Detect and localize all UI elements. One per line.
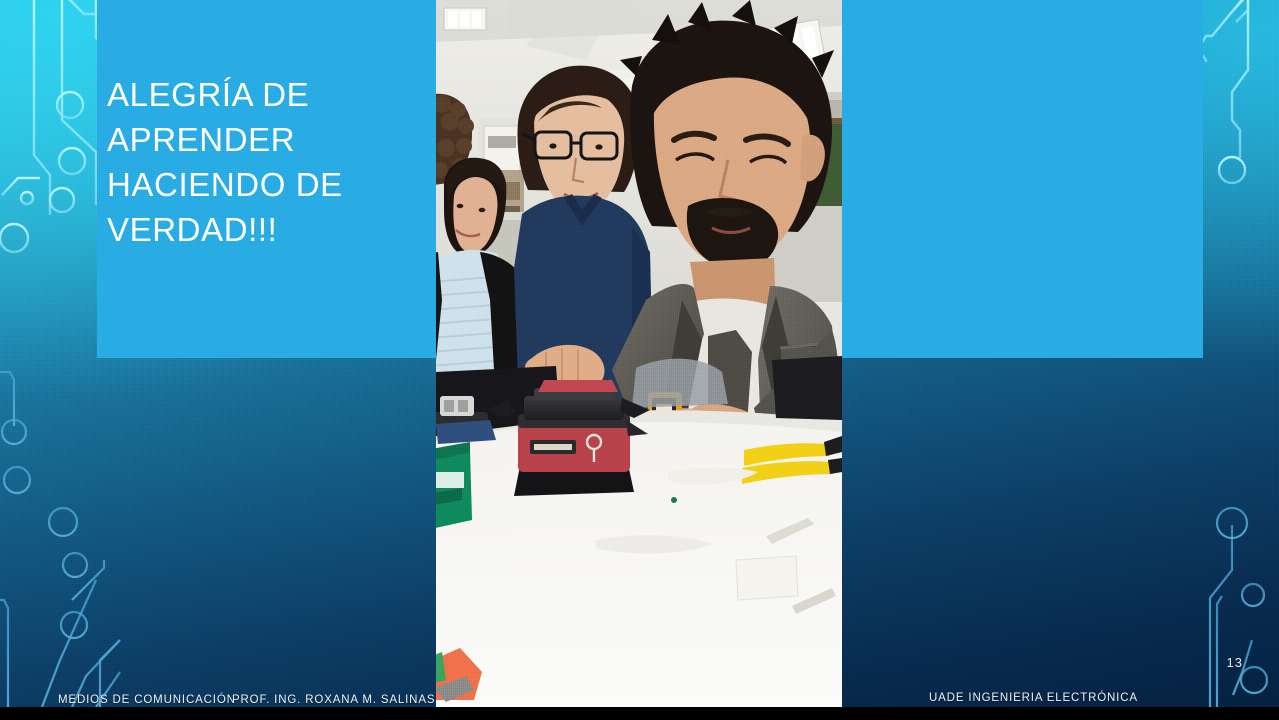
footer-black-bar xyxy=(0,707,1279,720)
circuit-nodes-top-right xyxy=(1219,157,1245,183)
page-title: ALEGRÍA DE APRENDER HACIENDO DE VERDAD!!… xyxy=(107,72,437,252)
green-box xyxy=(436,442,472,530)
photo-illustration xyxy=(436,0,842,707)
footer-department: UADE INGENIERIA ELECTRÓNICA xyxy=(929,692,1138,704)
ceiling-light xyxy=(444,8,486,30)
circuit-nodes-bottom-left xyxy=(2,420,87,638)
footer-subject: MEDIOS DE COMUNICACIÓN xyxy=(58,694,236,706)
page-number: 13 xyxy=(1227,655,1243,670)
slide: ALEGRÍA DE APRENDER HACIENDO DE VERDAD!!… xyxy=(0,0,1279,720)
footer-professor: PROF. ING. ROXANA M. SALINAS xyxy=(232,694,435,706)
circuit-traces-top-right xyxy=(1200,0,1252,158)
circuit-traces-bottom-right xyxy=(1210,525,1254,707)
slide-photo xyxy=(436,0,842,707)
circuit-traces-bottom-left xyxy=(0,372,120,707)
